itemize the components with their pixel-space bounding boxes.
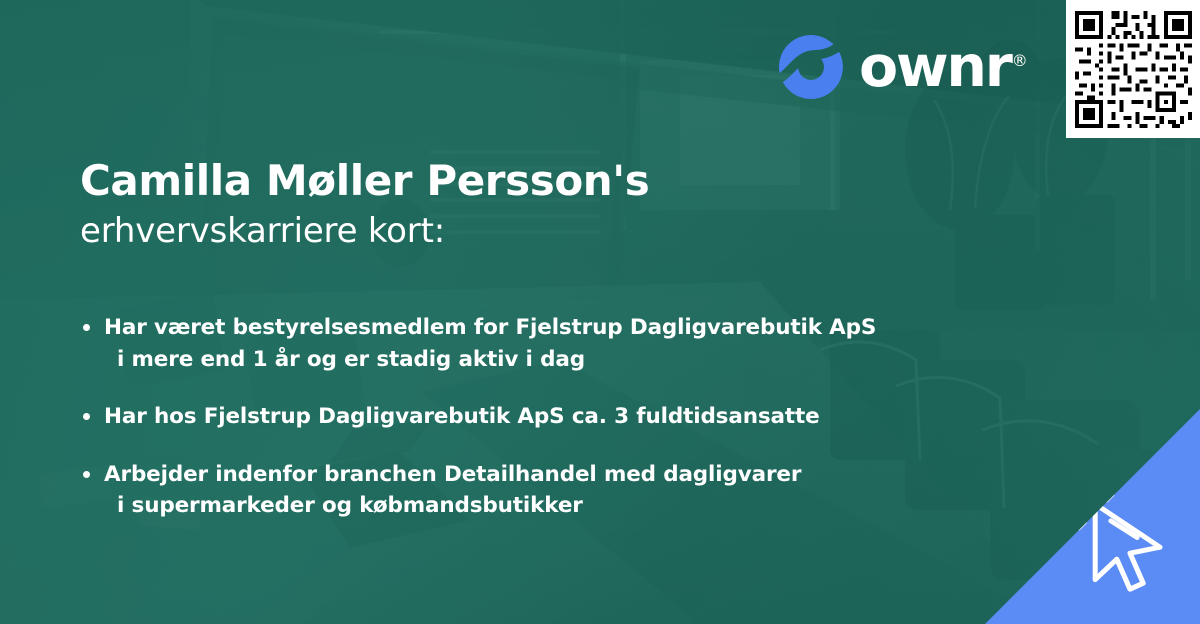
list-item-line-2: i mere end 1 år og er stadig aktiv i dag [104,344,980,376]
business-career-card: ownr® Camilla Møller Persson's erhvervsk… [0,0,1200,624]
registered-trademark-symbol: ® [1012,51,1028,70]
list-item: Har hos Fjelstrup Dagligvarebutik ApS ca… [80,401,980,433]
bullet-dot-icon [83,413,90,420]
page-subtitle: erhvervskarriere kort: [80,212,960,251]
ownr-logo[interactable]: ownr® [778,34,1028,100]
ownr-wordmark: ownr® [859,39,1028,96]
ownr-circular-swoosh-mark [778,34,844,100]
list-item: Har været bestyrelsesmedlem for Fjelstru… [80,312,980,375]
page-title: Camilla Møller Persson's erhvervskarrier… [80,157,960,251]
bullet-dot-icon [83,471,90,478]
list-item-line-1: Har hos Fjelstrup Dagligvarebutik ApS ca… [104,401,980,433]
qr-code[interactable] [1066,0,1200,138]
career-summary-list: Har været bestyrelsesmedlem for Fjelstru… [80,312,980,522]
list-item-line-1: Arbejder indenfor branchen Detailhandel … [104,459,980,491]
person-name-title: Camilla Møller Persson's [80,157,960,204]
bullet-dot-icon [83,324,90,331]
list-item: Arbejder indenfor branchen Detailhandel … [80,459,980,522]
list-item-line-2: i supermarkeder og købmandsbutikker [104,490,980,522]
list-item-line-1: Har været bestyrelsesmedlem for Fjelstru… [104,312,980,344]
